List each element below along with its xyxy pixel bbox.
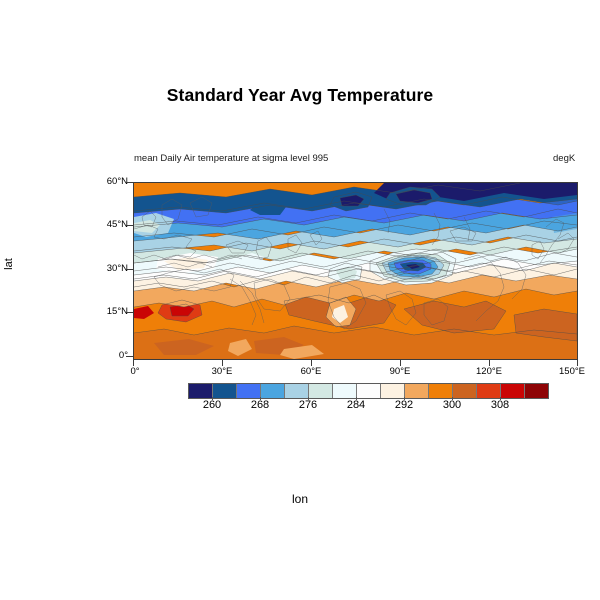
figure-root: Standard Year Avg Temperature mean Daily… <box>0 0 600 600</box>
colorbar-tick-label: 276 <box>299 399 317 411</box>
colorbar-tick-label: 268 <box>251 399 269 411</box>
colorbar-tick-label: 292 <box>395 399 413 411</box>
colorbar-tick-label: 260 <box>203 399 221 411</box>
colorbar-tick-label: 308 <box>491 399 509 411</box>
colorbar-tick-label: 284 <box>347 399 365 411</box>
colorbar-labels: 260268276284292300308 <box>0 0 600 600</box>
colorbar-tick-label: 300 <box>443 399 461 411</box>
